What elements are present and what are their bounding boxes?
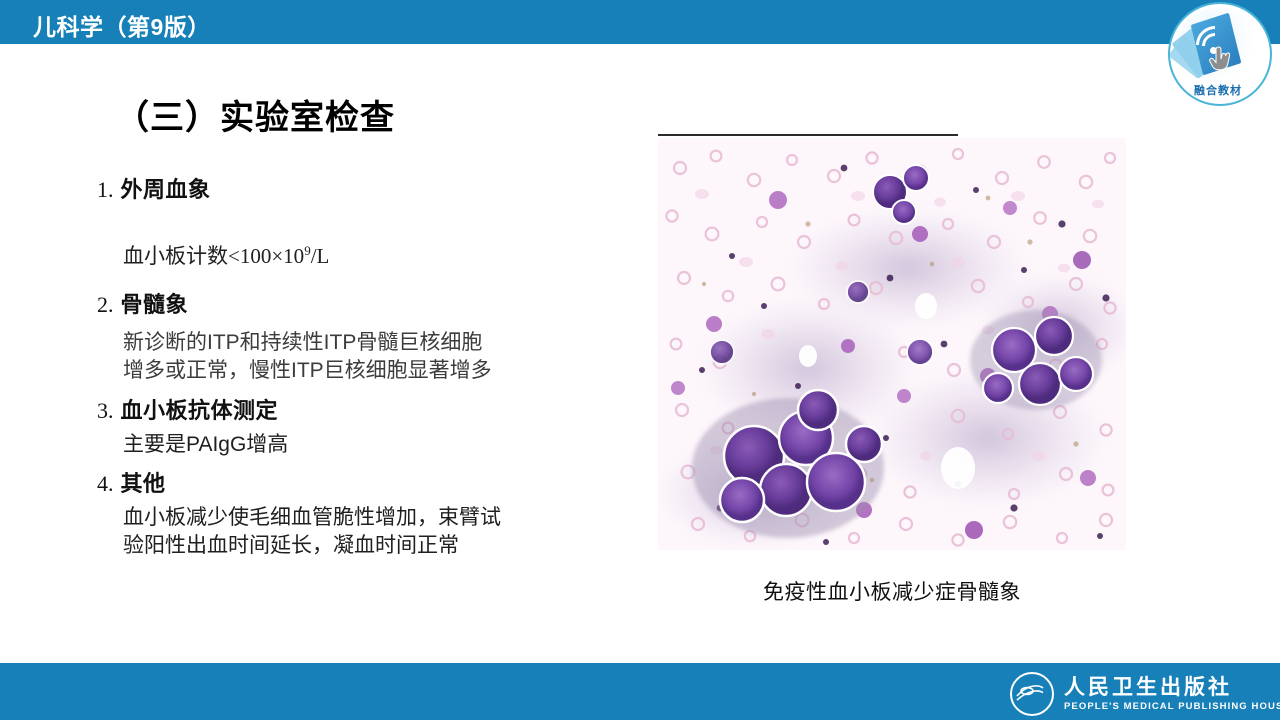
bone-marrow-smear-micrograph (658, 138, 1126, 550)
list-item-heading: 3. 血小板抗体测定 (97, 393, 617, 425)
publisher-emblem-icon (1010, 672, 1054, 716)
hand-pointer-icon (1208, 46, 1230, 76)
list-item-body: 血小板减少使毛细血管脆性增加，束臂试 验阳性出血时间延长，凝血时间正常 (123, 504, 617, 561)
list-item-heading: 2. 骨髓象 (97, 287, 617, 319)
list-item-number: 4. (97, 471, 114, 497)
list-item-title: 血小板抗体测定 (121, 393, 279, 425)
page-title: （三）实验室检查 (115, 90, 395, 139)
list-item-number: 1. (97, 177, 114, 203)
platelet-count-text: 血小板计数<100×10 (123, 244, 304, 268)
list-item-heading: 4. 其他 (97, 466, 617, 498)
lab-examination-list: 1. 外周血象 血小板计数<100×109/L 2. 骨髓象 新诊断的ITP和持… (97, 172, 617, 560)
list-item-other: 4. 其他 血小板减少使毛细血管脆性增加，束臂试 验阳性出血时间延长，凝血时间正… (97, 466, 617, 561)
list-item-body: 主要是PAIgG增高 (123, 431, 617, 459)
header-title: 儿科学（第9版） (33, 8, 211, 42)
list-item-number: 3. (97, 398, 114, 424)
list-item-body: 血小板计数<100×109/L (123, 214, 617, 271)
list-item-number: 2. (97, 292, 114, 318)
badge-ribbon-label: 融合教材 (1170, 82, 1266, 98)
figure-container (658, 138, 1126, 550)
figure-caption: 免疫性血小板减少症骨髓象 (658, 576, 1126, 606)
publisher-logo: 人民卫生出版社 PEOPLE'S MEDICAL PUBLISHING HOUS… (1010, 672, 1280, 716)
list-item-platelet-antibody: 3. 血小板抗体测定 主要是PAIgG增高 (97, 393, 617, 459)
list-item-title: 其他 (121, 466, 166, 498)
list-item-peripheral-blood: 1. 外周血象 血小板计数<100×109/L (97, 172, 617, 271)
list-item-title: 骨髓象 (121, 287, 189, 319)
publisher-text: 人民卫生出版社 PEOPLE'S MEDICAL PUBLISHING HOUS… (1064, 677, 1280, 712)
list-item-title: 外周血象 (121, 172, 211, 204)
publisher-name-cn: 人民卫生出版社 (1064, 677, 1280, 698)
list-item-body: 新诊断的ITP和持续性ITP骨髓巨核细胞 增多或正常，慢性ITP巨核细胞显著增多 (123, 329, 617, 386)
list-item-heading: 1. 外周血象 (97, 172, 617, 204)
list-item-bone-marrow: 2. 骨髓象 新诊断的ITP和持续性ITP骨髓巨核细胞 增多或正常，慢性ITP巨… (97, 287, 617, 386)
platelet-count-unit: /L (311, 244, 330, 268)
publisher-name-en: PEOPLE'S MEDICAL PUBLISHING HOUSE (1064, 702, 1280, 712)
figure-top-rule (658, 134, 958, 136)
fusion-textbook-badge: 融合教材 (1168, 2, 1272, 106)
